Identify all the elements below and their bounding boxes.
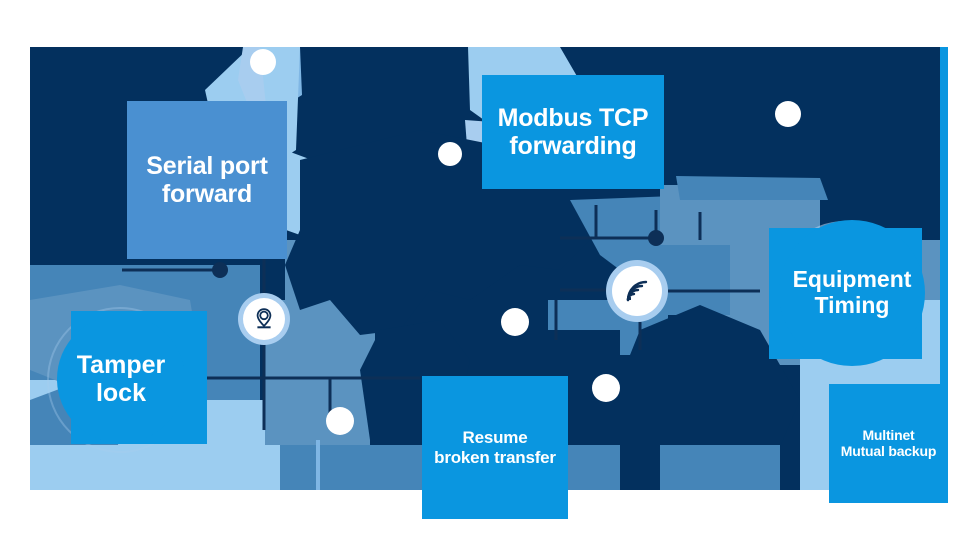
card-modbus-tcp-forwarding[interactable]: Modbus TCP forwarding — [482, 75, 664, 189]
card-multinet-mutual-backup[interactable]: Multinet Mutual backup — [829, 384, 948, 503]
map-band-bottom-mid — [280, 445, 440, 490]
map-shape-asia-strip — [676, 176, 828, 200]
wifi-signal-icon — [621, 275, 653, 307]
card-serial-port-forward[interactable]: Serial port forward — [127, 101, 287, 259]
equipment-circle: Equipment Timing — [779, 220, 925, 366]
infographic-stage: Serial port forward Modbus TCP forwardin… — [0, 0, 980, 560]
card-modbus-line1: Modbus TCP — [492, 104, 655, 132]
wifi-signal-node[interactable] — [606, 260, 668, 322]
card-equipment-line2: Timing — [793, 293, 912, 319]
map-band-divider — [316, 440, 320, 490]
tamper-circle: Tamper lock — [57, 315, 185, 443]
location-pin-node[interactable] — [238, 293, 290, 345]
pin-node-disc — [243, 298, 285, 340]
map-dot — [326, 407, 354, 435]
map-band-bottom-dark — [620, 445, 660, 490]
card-tamper-lock[interactable]: Tamper lock — [57, 311, 207, 444]
map-dot — [501, 308, 529, 336]
card-multinet-line1: Multinet — [835, 428, 942, 444]
map-band-bottom-mid3 — [660, 445, 780, 490]
card-modbus-line2: forwarding — [492, 132, 655, 160]
card-serial-line2: forward — [140, 180, 273, 208]
card-resume-broken-transfer[interactable]: Resume broken transfer — [422, 376, 568, 519]
map-dot — [250, 49, 276, 75]
card-serial-line1: Serial port — [140, 152, 273, 180]
card-tamper-line2: lock — [77, 379, 165, 407]
map-dot — [438, 142, 462, 166]
connector-node — [648, 230, 664, 246]
map-dot — [775, 101, 801, 127]
card-equipment-line1: Equipment — [793, 267, 912, 293]
card-equipment-timing[interactable]: Equipment Timing — [769, 228, 922, 359]
card-tamper-line1: Tamper — [77, 351, 165, 379]
map-dot — [592, 374, 620, 402]
map-band-bottom-light — [30, 445, 280, 490]
location-pin-icon — [251, 306, 277, 332]
card-resume-line1: Resume — [428, 428, 562, 447]
connector-node — [212, 262, 228, 278]
wifi-node-disc — [612, 266, 662, 316]
card-multinet-line2: Mutual backup — [835, 444, 942, 460]
card-resume-line2: broken transfer — [428, 448, 562, 467]
